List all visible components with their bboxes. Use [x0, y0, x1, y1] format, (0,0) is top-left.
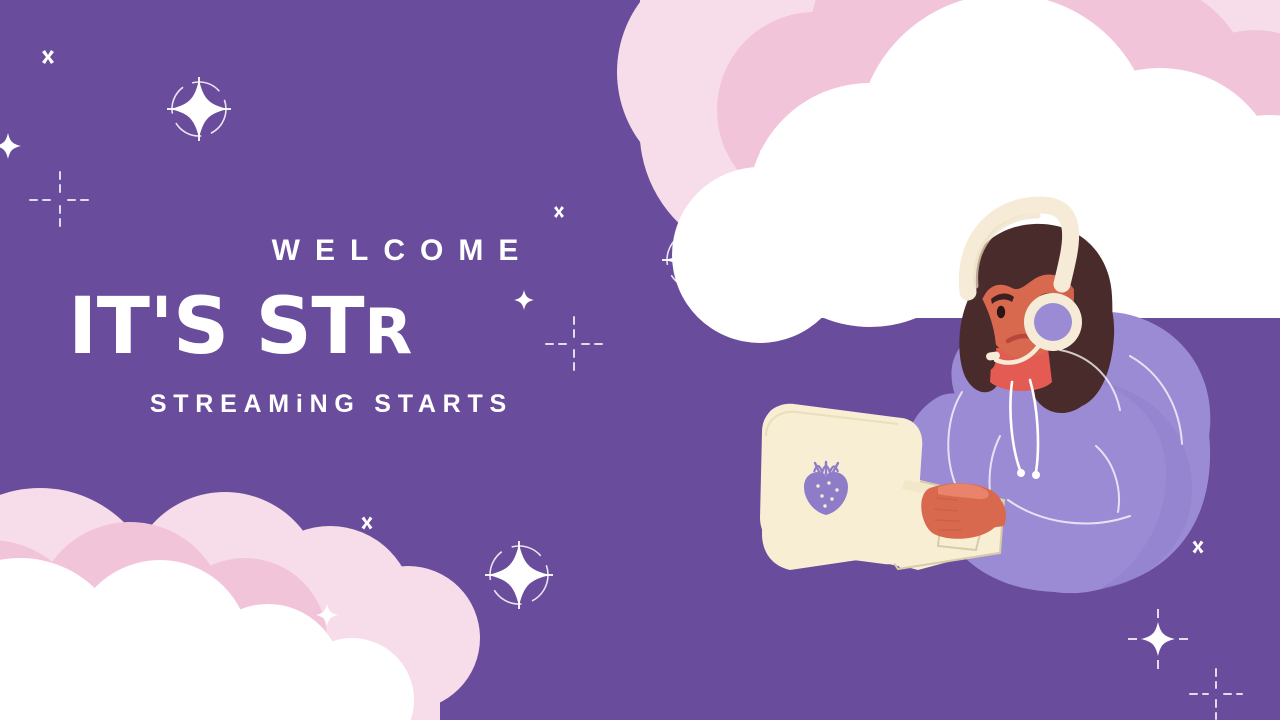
sparkle-star-icon-3	[514, 290, 534, 310]
sparkle-star-icon-4	[316, 604, 338, 626]
sparkle-star-ring-icon-3	[485, 541, 553, 609]
sparkle-x-icon-4	[1193, 541, 1204, 554]
sparkle-plus-icon	[30, 172, 90, 228]
sparkle-x-icon-2	[554, 206, 564, 218]
sparkle-x-icon-3	[362, 517, 373, 530]
sparkle-star-icon-5	[1128, 609, 1188, 669]
sparkle-plus-icon-2	[546, 317, 602, 371]
sparkle-x-icon	[42, 50, 54, 64]
sparkle-plus-icon-4	[0, 678, 38, 700]
sparkles-layer	[0, 0, 1280, 720]
poster-canvas: WELCOME IT'S STR STREAMiNG STARTS	[0, 0, 1280, 720]
sparkle-star-icon	[0, 133, 21, 159]
sparkle-star-ring-icon-2	[662, 226, 730, 294]
sparkle-plus-icon-3	[1190, 669, 1242, 719]
sparkle-star-ring-icon	[167, 77, 231, 141]
